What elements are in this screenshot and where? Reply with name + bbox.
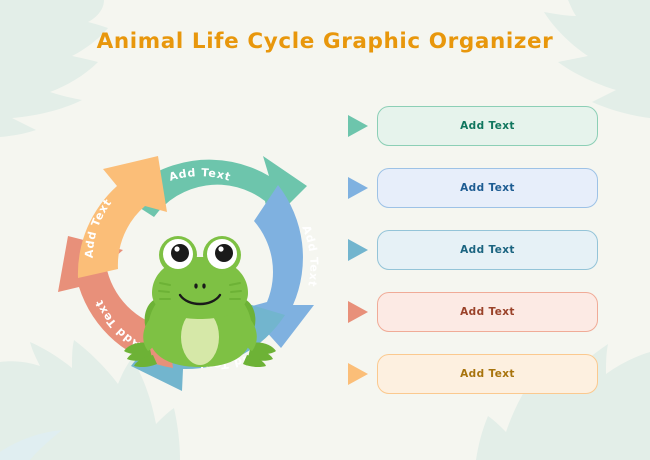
list-item-label: Add Text xyxy=(460,182,515,194)
triangle-marker-icon xyxy=(348,300,368,324)
list-item-label: Add Text xyxy=(460,306,515,318)
triangle-marker-icon xyxy=(348,238,368,262)
list-item-box[interactable]: Add Text xyxy=(377,354,598,394)
list-item-box[interactable]: Add Text xyxy=(377,230,598,270)
triangle-marker-icon xyxy=(348,176,368,200)
list-item-box[interactable]: Add Text xyxy=(377,106,598,146)
page-title: Animal Life Cycle Graphic Organizer xyxy=(0,29,650,54)
frog-left-eye xyxy=(159,236,197,274)
life-cycle-diagram: Add Text Add Text Add Text xyxy=(55,100,345,400)
list-item-box[interactable]: Add Text xyxy=(377,168,598,208)
frog-right-eye xyxy=(203,236,241,274)
list-item[interactable]: Add Text xyxy=(348,291,598,333)
list-item-label: Add Text xyxy=(460,244,515,256)
list-item[interactable]: Add Text xyxy=(348,105,598,147)
list-item[interactable]: Add Text xyxy=(348,229,598,271)
list-item[interactable]: Add Text xyxy=(348,353,598,395)
list-item-label: Add Text xyxy=(460,120,515,132)
text-item-list: Add Text Add Text Add Text Add T xyxy=(348,105,598,395)
list-item-label: Add Text xyxy=(460,368,515,380)
frog-illustration xyxy=(124,236,276,367)
triangle-marker-icon xyxy=(348,362,368,386)
organizer-canvas: Animal Life Cycle Graphic Organizer Add … xyxy=(0,0,650,460)
cycle-segment-left-arrow xyxy=(78,156,167,278)
list-item-box[interactable]: Add Text xyxy=(377,292,598,332)
list-item[interactable]: Add Text xyxy=(348,167,598,209)
triangle-marker-icon xyxy=(348,114,368,138)
cycle-segment-left[interactable]: Add Text xyxy=(78,156,167,278)
